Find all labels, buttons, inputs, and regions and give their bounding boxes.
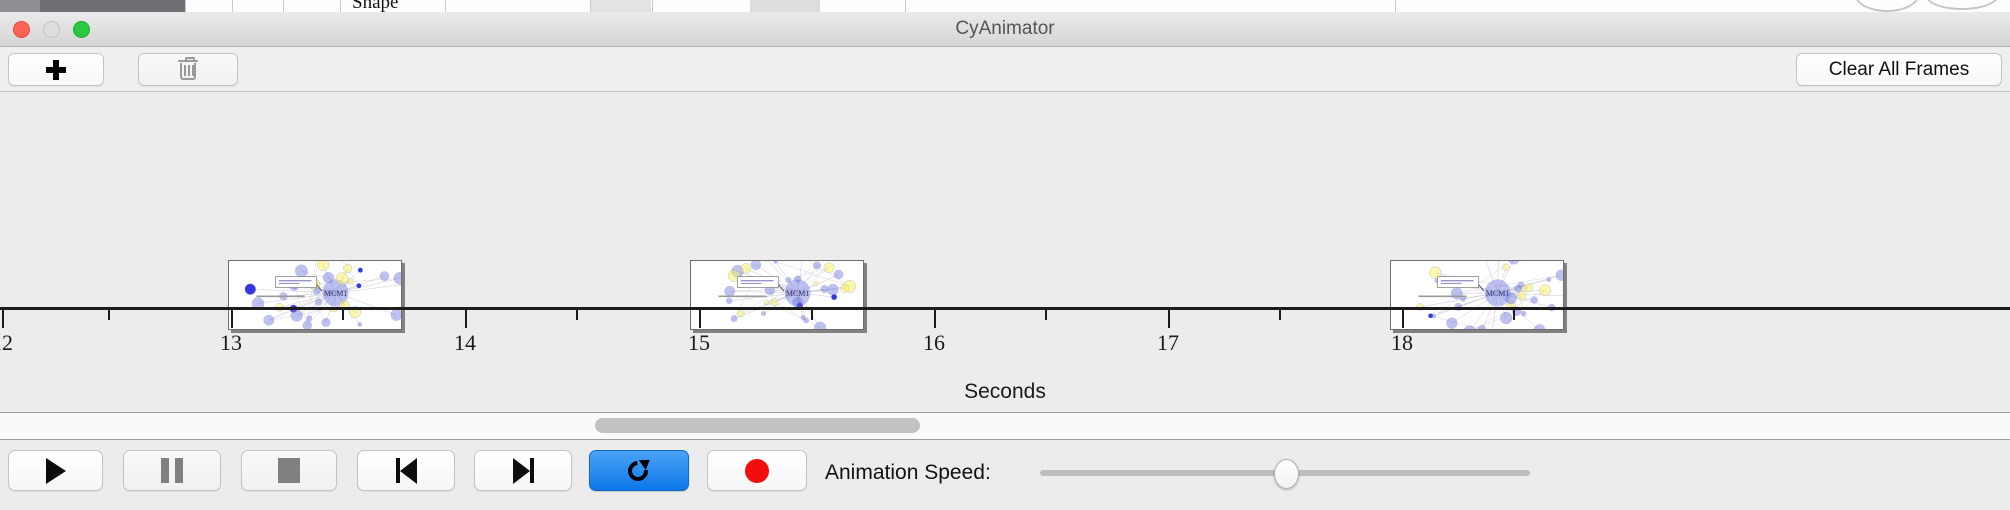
scrollbar-thumb[interactable] [595,418,920,433]
pause-button[interactable] [123,450,221,491]
window-title: CyAnimator [0,12,2010,46]
stop-icon [278,458,300,483]
axis-minor-tick [1045,310,1047,320]
axis-tick-label: 18 [1391,330,1413,356]
timeline-frame-thumbnail[interactable]: MCM1 [1390,260,1564,330]
axis-tick-label: 12 [0,330,13,356]
loop-icon [626,458,652,484]
axis-major-tick [2,310,4,328]
axis-minor-tick [811,310,813,320]
timeline-scrollbar[interactable] [0,413,2010,440]
axis-minor-tick [1513,310,1515,320]
axis-minor-tick [342,310,344,320]
pause-icon [161,458,183,483]
axis-major-tick [1402,310,1404,328]
skip-forward-button[interactable] [474,450,572,491]
clear-all-frames-button[interactable]: Clear All Frames [1796,53,2002,86]
background-window-label: Shape [352,0,398,12]
axis-tick-label: 17 [1157,330,1179,356]
axis-minor-tick [576,310,578,320]
axis-tick-label: 15 [688,330,710,356]
axis-major-tick [465,310,467,328]
stop-button[interactable] [241,450,337,491]
axis-major-tick [699,310,701,328]
plus-icon [46,60,66,80]
add-frame-button[interactable] [8,53,104,86]
record-button[interactable] [707,450,807,491]
play-icon [46,458,66,484]
background-window-strip: Shape [0,0,2010,12]
delete-frame-button[interactable] [138,53,238,86]
animation-speed-slider[interactable] [1040,470,1530,476]
playback-controls: Animation Speed: [0,440,2010,510]
play-button[interactable] [8,450,103,491]
record-icon [745,459,769,483]
axis-tick-label: 14 [454,330,476,356]
axis-minor-tick [108,310,110,320]
frame-toolbar: Clear All Frames [0,47,2010,92]
skip-back-icon [396,458,417,484]
axis-minor-tick [1279,310,1281,320]
timeline-axis [0,307,2010,310]
axis-tick-label: 13 [220,330,242,356]
timeline-panel[interactable]: MCM1 MCM1 MCM1 12131415161718Seconds [0,92,2010,413]
slider-knob[interactable] [1274,459,1299,489]
title-bar: CyAnimator [0,12,2010,47]
axis-title: Seconds [0,380,2010,404]
animation-speed-label: Animation Speed: [825,461,991,485]
timeline-frame-thumbnail[interactable]: MCM1 [690,260,864,330]
svg-text:MCM1: MCM1 [786,289,810,298]
trash-icon [180,60,196,80]
cyanimator-window: Shape CyAnimator Clear All Frames [0,0,2010,510]
axis-major-tick [934,310,936,328]
skip-forward-icon [513,458,534,484]
axis-major-tick [1168,310,1170,328]
timeline-frame-thumbnail[interactable]: MCM1 [228,260,402,330]
axis-tick-label: 16 [923,330,945,356]
skip-back-button[interactable] [357,450,455,491]
svg-text:MCM1: MCM1 [324,289,348,298]
axis-major-tick [231,310,233,328]
loop-button[interactable] [589,450,689,491]
